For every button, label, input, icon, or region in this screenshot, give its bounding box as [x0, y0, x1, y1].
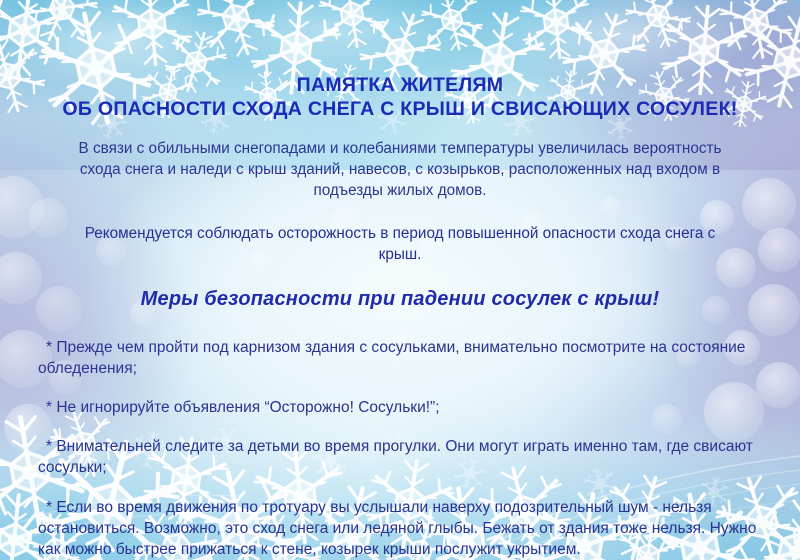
- list-item: * Если во время движения по тротуару вы …: [38, 497, 762, 560]
- intro-paragraph: В связи с обильными снегопадами и колеба…: [76, 122, 724, 202]
- list-item: * Внимательней следите за детьми во врем…: [38, 436, 762, 478]
- poster-title: ПАМЯТКА ЖИТЕЛЯМ ОБ ОПАСНОСТИ СХОДА СНЕГА…: [0, 0, 800, 122]
- list-item: * Прежде чем пройти под карнизом здания …: [38, 337, 762, 379]
- safety-bullet-list: * Прежде чем пройти под карнизом здания …: [0, 311, 800, 560]
- winter-safety-poster: ПАМЯТКА ЖИТЕЛЯМ ОБ ОПАСНОСТИ СХОДА СНЕГА…: [0, 0, 800, 560]
- poster-content: ПАМЯТКА ЖИТЕЛЯМ ОБ ОПАСНОСТИ СХОДА СНЕГА…: [0, 0, 800, 560]
- safety-measures-subheading: Меры безопасности при падении сосулек с …: [0, 266, 800, 311]
- title-line-2: ОБ ОПАСНОСТИ СХОДА СНЕГА С КРЫШ И СВИСАЮ…: [0, 97, 800, 122]
- list-item: * Не игнорируйте объявления “Осторожно! …: [38, 397, 762, 418]
- recommendation-paragraph: Рекомендуется соблюдать осторожность в п…: [70, 202, 730, 266]
- title-line-1: ПАМЯТКА ЖИТЕЛЯМ: [0, 74, 800, 97]
